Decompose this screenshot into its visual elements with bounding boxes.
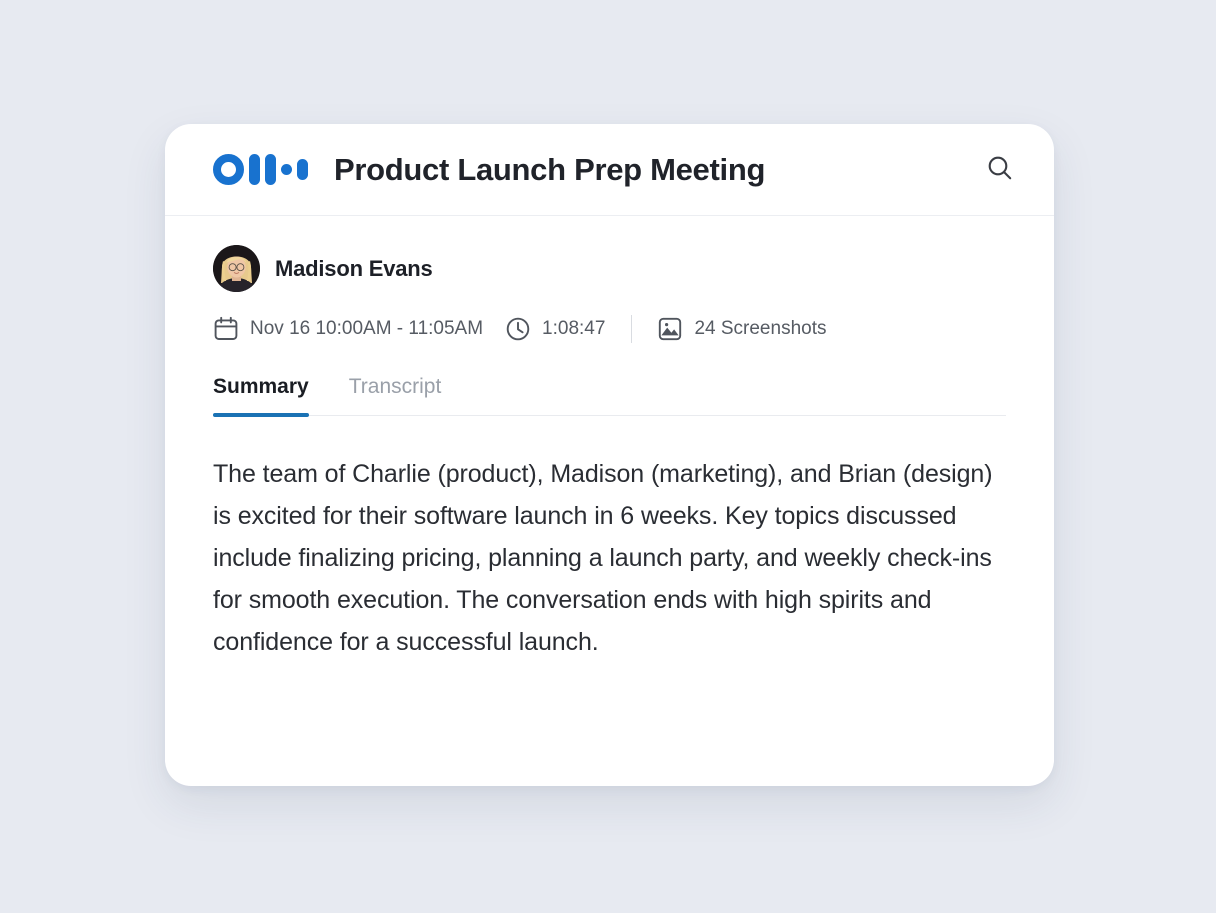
tab-summary[interactable]: Summary xyxy=(213,375,309,415)
card-header: Product Launch Prep Meeting xyxy=(165,124,1054,216)
search-button[interactable] xyxy=(980,150,1020,190)
logo-bar-icon xyxy=(249,154,260,185)
tab-bar: Summary Transcript xyxy=(213,375,1006,416)
speaker-row: Madison Evans xyxy=(213,216,1006,292)
tab-transcript[interactable]: Transcript xyxy=(349,375,442,415)
meeting-date-range: Nov 16 10:00AM - 11:05AM xyxy=(250,318,483,340)
meta-divider xyxy=(631,315,632,343)
meeting-meta: Nov 16 10:00AM - 11:05AM 1:08:47 xyxy=(213,315,1006,343)
meta-date: Nov 16 10:00AM - 11:05AM xyxy=(213,316,483,342)
meta-duration: 1:08:47 xyxy=(505,316,605,342)
meeting-duration: 1:08:47 xyxy=(542,318,605,340)
avatar[interactable] xyxy=(213,245,260,292)
meeting-card: Product Launch Prep Meeting xyxy=(165,124,1054,786)
calendar-icon xyxy=(213,316,239,342)
summary-text: The team of Charlie (product), Madison (… xyxy=(213,453,1003,663)
clock-icon xyxy=(505,316,531,342)
speaker-name: Madison Evans xyxy=(275,256,433,282)
card-body: Madison Evans Nov 16 10:00AM - 11:05AM xyxy=(165,216,1054,663)
logo-ring-icon xyxy=(213,154,244,185)
image-icon xyxy=(657,316,683,342)
logo-dot-icon xyxy=(281,164,292,175)
logo-bar-icon xyxy=(297,159,308,180)
meta-screenshots[interactable]: 24 Screenshots xyxy=(657,316,826,342)
logo-bar-icon xyxy=(265,154,276,185)
search-icon xyxy=(985,153,1015,186)
page-title: Product Launch Prep Meeting xyxy=(334,152,980,188)
otter-logo[interactable] xyxy=(213,154,308,185)
screenshot-count: 24 Screenshots xyxy=(694,318,826,340)
